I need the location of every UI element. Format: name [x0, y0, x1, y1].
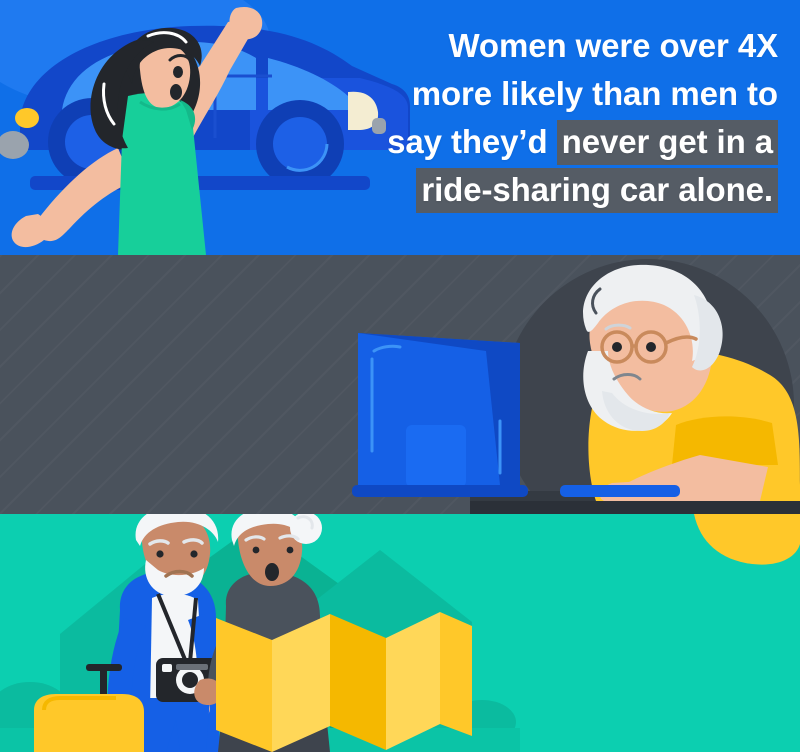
- infographic-root: Women were over 4X more likely than men …: [0, 0, 800, 752]
- airbnb-panel: 1 in 5 baby boomers said they’d never st…: [0, 514, 800, 752]
- senior-tourist-couple-illustration: [0, 514, 800, 752]
- senior-man-at-computer-illustration: [0, 255, 800, 514]
- computer-monitor: [352, 333, 528, 497]
- ride-sharing-copy: Women were over 4X more likely than men …: [387, 22, 778, 214]
- social-security-panel: About half of baby boomers said they’d n…: [0, 255, 800, 514]
- copy-line: ride-sharing car alone.: [387, 166, 778, 214]
- highlighted-phrase: never get in a: [557, 120, 778, 165]
- plain-phrase: more likely than men to: [412, 75, 778, 112]
- copy-line: more likely than men to: [387, 70, 778, 118]
- copy-line: say they’d never get in a: [387, 118, 778, 166]
- copy-line: Women were over 4X: [387, 22, 778, 70]
- highlighted-phrase: ride-sharing car alone.: [416, 168, 778, 213]
- ride-sharing-panel: Women were over 4X more likely than men …: [0, 0, 800, 255]
- plain-phrase: Women were over 4X: [448, 27, 778, 64]
- plain-phrase: say they’d: [387, 123, 556, 160]
